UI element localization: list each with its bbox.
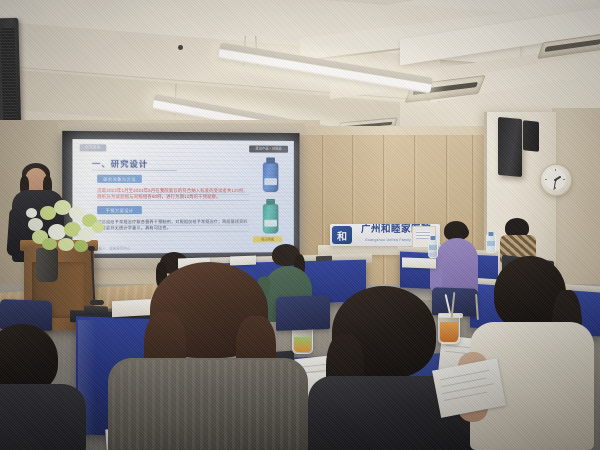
attendee-far-left-torso	[0, 384, 86, 450]
paper-right-table	[402, 257, 436, 268]
attendee-purple-scrubs-bun	[460, 227, 469, 238]
drink-cup-2	[438, 314, 460, 344]
chair-front-1	[276, 295, 330, 331]
cable-coil	[90, 300, 104, 305]
hospital-logo-icon: 和	[332, 226, 352, 244]
water-bottle-1	[428, 238, 438, 258]
paper-mid-table-2	[230, 256, 256, 266]
conference-room-photo: 研究报告 一、研究设计 研究对象与方法 选取2023年1月至2024年6月在我院…	[0, 0, 600, 450]
wall-speaker-right	[498, 117, 522, 177]
attendee-foreground-left-knit-texture	[112, 360, 304, 450]
wall-speaker-bracket	[523, 120, 539, 152]
ceiling-sensor-icon	[178, 45, 183, 50]
av-control-device	[84, 306, 108, 316]
water-bottle-2	[486, 234, 496, 253]
remote-control	[316, 256, 332, 262]
wall-clock	[540, 164, 572, 196]
flower-arrangement	[24, 196, 110, 256]
